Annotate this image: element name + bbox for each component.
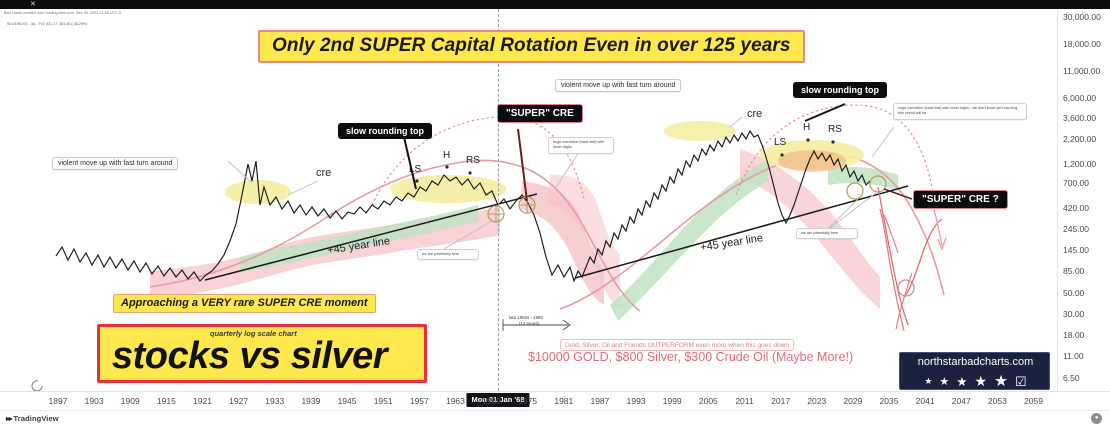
annotation-violent-move-center: violent move up with fast turn around <box>555 79 681 92</box>
time-tick-1969: 1969 <box>482 396 501 406</box>
time-tick-2059: 2059 <box>1024 396 1043 406</box>
annotation-cre-left: cre <box>316 167 331 179</box>
price-tick-15: 11.00 <box>1063 351 1084 361</box>
annotation-we-are-here-right: we are potentially here <box>796 228 858 239</box>
annotation-rs-right: RS <box>828 124 842 135</box>
prediction-line: $10000 GOLD, $800 Silver, $300 Crude Oil… <box>528 350 853 364</box>
price-tick-14: 18.00 <box>1063 330 1084 340</box>
annotation-we-are-here-left: we are potentially here <box>417 249 479 260</box>
star-icon-5: ★ <box>994 372 1008 391</box>
price-axis[interactable]: 30,000.0018,000.0011,000.006,000.003,600… <box>1057 9 1110 391</box>
annotation-rs-left: RS <box>466 155 480 166</box>
badge-stars: ★ ★ ★ ★ ★ ☑ <box>900 372 1051 391</box>
price-tick-5: 2,200.00 <box>1063 134 1096 144</box>
annotation-ls-left: LS <box>409 164 421 175</box>
time-tick-1933: 1933 <box>265 396 284 406</box>
price-tick-6: 1,200.00 <box>1063 159 1096 169</box>
tradingview-chart-screenshot: ✕ Bad charts created with TradingView.co… <box>0 0 1110 425</box>
close-icon[interactable]: ✕ <box>30 1 37 8</box>
annotation-super-cre-right: "SUPER" CRE ? <box>913 190 1008 209</box>
crosshair-vertical-line <box>498 9 499 391</box>
price-tick-16: 6.50 <box>1063 373 1080 383</box>
time-tick-1957: 1957 <box>410 396 429 406</box>
price-tick-8: 420.00 <box>1063 203 1089 213</box>
time-tick-1945: 1945 <box>338 396 357 406</box>
subheadline-banner: Approaching a VERY rare SUPER CRE moment <box>113 294 376 313</box>
checkbox-icon: ☑ <box>1015 374 1027 390</box>
time-tick-2047: 2047 <box>952 396 971 406</box>
badge-site-label: northstarbadcharts.com <box>900 356 1051 368</box>
price-tick-10: 145.00 <box>1063 245 1089 255</box>
time-tick-2053: 2053 <box>988 396 1007 406</box>
time-tick-2035: 2035 <box>880 396 899 406</box>
price-tick-3: 6,000.00 <box>1063 93 1096 103</box>
time-tick-1921: 1921 <box>193 396 212 406</box>
annotation-period-years: (12 Years) <box>519 321 539 326</box>
star-icon-3: ★ <box>956 374 967 389</box>
annotation-slow-rounding-top-right: slow rounding top <box>793 82 887 98</box>
price-tick-0: 30,000.00 <box>1063 12 1101 22</box>
time-tick-1987: 1987 <box>590 396 609 406</box>
chart-title-box: quarterly log scale chart stocks vs silv… <box>97 324 427 383</box>
star-icon-2: ★ <box>939 375 949 388</box>
time-tick-2011: 2011 <box>735 396 753 406</box>
time-tick-1903: 1903 <box>85 396 104 406</box>
price-tick-4: 3,600.00 <box>1063 113 1096 123</box>
annotation-ls-right: LS <box>774 137 786 148</box>
price-tick-11: 85.00 <box>1063 266 1084 276</box>
time-tick-1975: 1975 <box>518 396 537 406</box>
annotation-period-late-1960s: late 1960s - 1980 <box>509 315 543 320</box>
tradingview-logo-mark: ▸▸ <box>6 414 12 423</box>
annotation-super-cre-center: "SUPER" CRE <box>497 104 583 123</box>
chart-canvas[interactable]: Bad charts created with TradingView.com,… <box>0 9 1057 391</box>
annotation-huge-correction-right: huge correction (back test) with lower h… <box>893 103 1027 120</box>
time-tick-1939: 1939 <box>301 396 320 406</box>
tradingview-logo-text: TradingView <box>14 414 59 423</box>
time-tick-1927: 1927 <box>229 396 248 406</box>
price-tick-13: 30.00 <box>1063 309 1084 319</box>
tradingview-logo[interactable]: ▸▸TradingView <box>6 414 59 423</box>
time-tick-2023: 2023 <box>807 396 826 406</box>
footer-bar: ▸▸TradingView ● <box>0 410 1110 425</box>
star-icon-1: ★ <box>924 376 932 387</box>
time-tick-1981: 1981 <box>554 396 573 406</box>
time-tick-2017: 2017 <box>771 396 790 406</box>
time-tick-1963: 1963 <box>446 396 465 406</box>
time-tick-1999: 1999 <box>663 396 682 406</box>
annotation-slow-rounding-top-left: slow rounding top <box>338 123 432 139</box>
price-tick-7: 700.00 <box>1063 178 1089 188</box>
annotation-cre-right: cre <box>747 108 762 120</box>
price-tick-12: 50.00 <box>1063 288 1084 298</box>
time-tick-1897: 1897 <box>49 396 68 406</box>
price-tick-9: 245.00 <box>1063 224 1089 234</box>
headline-banner: Only 2nd SUPER Capital Rotation Even in … <box>258 30 805 63</box>
price-tick-1: 18,000.00 <box>1063 39 1101 49</box>
time-tick-1909: 1909 <box>121 396 140 406</box>
chart-title-text: stocks vs silver <box>112 334 387 378</box>
time-tick-1993: 1993 <box>627 396 646 406</box>
user-icon[interactable]: ● <box>1091 413 1102 424</box>
annotation-violent-move-left: violent move up with fast turn around <box>52 157 178 170</box>
star-icon-4: ★ <box>975 373 988 390</box>
time-axis[interactable]: Mon 01 Jan '68 1897190319091915192119271… <box>0 391 1110 410</box>
time-tick-2029: 2029 <box>843 396 862 406</box>
window-topbar: ✕ <box>0 0 1110 9</box>
time-tick-1915: 1915 <box>157 396 176 406</box>
time-tick-2041: 2041 <box>916 396 935 406</box>
annotation-huge-correction-center: huge correction (back test) with lower h… <box>548 137 614 154</box>
northstarbadcharts-badge[interactable]: northstarbadcharts.com ★ ★ ★ ★ ★ ☑ <box>899 352 1050 390</box>
price-tick-2: 11,000.00 <box>1063 66 1100 76</box>
time-tick-1951: 1951 <box>374 396 393 406</box>
annotation-h-left: H <box>443 150 450 161</box>
annotation-h-right: H <box>803 122 810 133</box>
time-tick-2005: 2005 <box>699 396 718 406</box>
